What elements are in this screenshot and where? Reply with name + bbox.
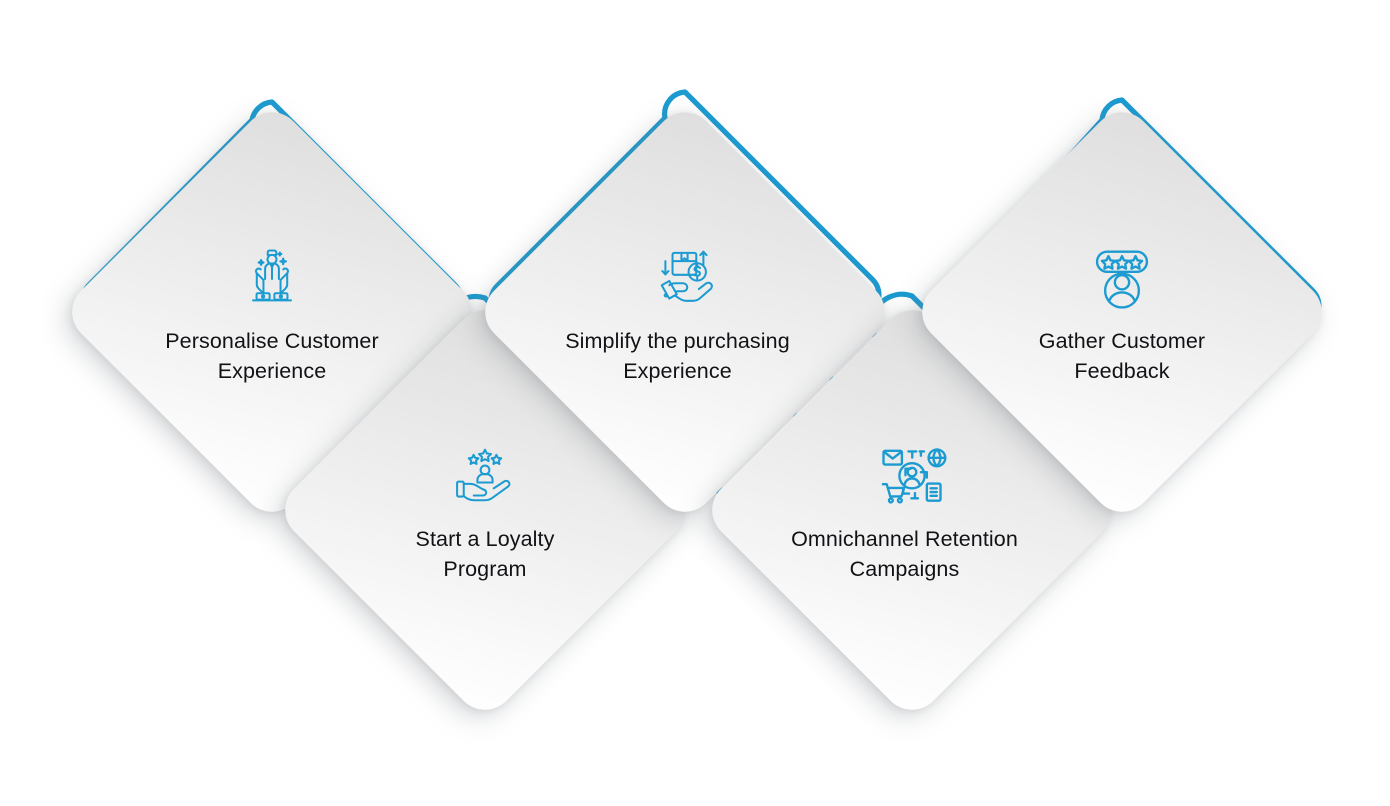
- hand-holding-person-stars-icon: [447, 436, 523, 512]
- infographic-canvas: Personalise Customer Experience Start: [0, 0, 1390, 806]
- hand-holding-package-dollar-icon: [647, 238, 723, 314]
- card-content: Gather Customer Feedback: [972, 162, 1272, 462]
- card-label: Omnichannel Retention Campaigns: [740, 524, 1070, 584]
- hands-holding-person-sparkle-icon: [234, 238, 310, 314]
- omnichannel-network-person-icon: [874, 436, 950, 512]
- card-label: Gather Customer Feedback: [972, 326, 1272, 386]
- person-star-rating-icon: [1084, 238, 1160, 314]
- card-gather-customer-feedback[interactable]: Gather Customer Feedback: [972, 162, 1272, 462]
- card-label: Start a Loyalty Program: [335, 524, 635, 584]
